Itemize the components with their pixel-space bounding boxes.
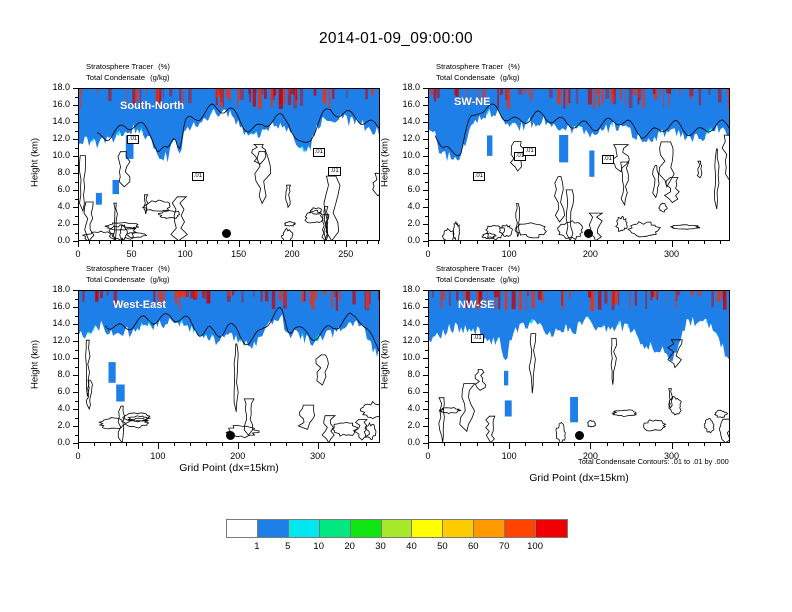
tracer-band-texture <box>314 291 318 300</box>
tracer-band-texture <box>620 89 622 100</box>
y-axis-minor-tick <box>425 131 428 132</box>
orientation-label: SW-NE <box>454 96 490 108</box>
tracer-band-texture <box>576 89 579 104</box>
x-axis-minor-tick <box>174 443 175 446</box>
x-axis-minor-tick <box>542 443 543 446</box>
x-axis-minor-tick <box>292 241 293 244</box>
condensate-contour <box>118 406 125 443</box>
tracer-band-texture <box>562 291 563 307</box>
tracer-band-texture <box>522 89 526 94</box>
tracer-band-texture <box>228 291 231 296</box>
y-axis-tick-label: 2.0 <box>382 218 420 228</box>
panel-header: Stratosphere Tracer(%) Total Condensate(… <box>436 62 520 83</box>
y-axis-minor-tick <box>425 216 428 217</box>
tracer-band-texture <box>699 89 702 106</box>
header-variable-unit: (%) <box>503 62 520 71</box>
orientation-label: South-North <box>120 100 184 112</box>
colorbar <box>226 519 568 538</box>
tracer-band-texture <box>346 89 348 98</box>
tracer-band-texture <box>80 89 82 94</box>
tracer-band-texture <box>378 291 380 300</box>
tracer-band-texture <box>663 89 664 108</box>
tracer-band-texture <box>717 291 721 302</box>
y-axis-tick <box>423 122 428 123</box>
condensate-contour <box>659 203 667 212</box>
condensate-contour <box>114 203 118 241</box>
condensate-contour <box>665 178 680 203</box>
tracer-band-texture <box>260 291 263 302</box>
x-axis-minor-tick <box>228 241 229 244</box>
tracer-band-texture <box>331 291 334 308</box>
y-axis-minor-tick <box>75 333 78 334</box>
condensate-contour <box>442 229 454 242</box>
tracer-band-texture <box>697 291 701 296</box>
x-axis-minor-tick <box>324 241 325 244</box>
y-axis-minor-tick <box>425 418 428 419</box>
tracer-band-texture <box>444 291 445 300</box>
condensate-contour <box>644 420 666 431</box>
x-axis-minor-tick <box>142 241 143 244</box>
tracer-band-texture <box>449 291 451 306</box>
panel-header: Stratosphere Tracer(%) Total Condensate(… <box>86 264 170 285</box>
y-axis-tick <box>423 190 428 191</box>
tracer-filament <box>487 135 492 156</box>
y-axis-tick <box>423 139 428 140</box>
x-axis-minor-tick <box>185 241 186 244</box>
condensate-contour <box>460 384 475 432</box>
tracer-filament <box>109 362 116 383</box>
condensate-contour <box>83 231 116 241</box>
condensate-contour <box>722 135 730 180</box>
y-axis-tick-label: 18.0 <box>32 82 70 92</box>
condensate-contour <box>244 399 254 435</box>
x-axis-minor-tick <box>158 443 159 446</box>
tracer-contour-field <box>79 291 380 443</box>
tracer-band-texture <box>262 89 264 95</box>
tracer-band-texture <box>651 291 654 297</box>
y-axis-minor-tick <box>425 233 428 234</box>
colorbar-segment <box>474 520 505 537</box>
y-axis-minor-tick <box>75 182 78 183</box>
tracer-band-texture <box>288 89 289 96</box>
x-axis-minor-tick <box>477 241 478 244</box>
x-axis-minor-tick <box>477 443 478 446</box>
condensate-contour <box>286 185 291 207</box>
y-axis-minor-tick <box>75 199 78 200</box>
condensate-contour <box>628 222 660 237</box>
y-axis-minor-tick <box>425 384 428 385</box>
condensate-contour <box>453 222 460 241</box>
x-axis-minor-tick <box>132 241 133 244</box>
condensate-contour <box>234 344 238 412</box>
y-axis-label: Height (km) <box>380 309 391 419</box>
contour-value-label: .01 <box>127 135 139 144</box>
header-overlay: Total Condensate <box>86 73 145 82</box>
x-axis-tick-label: 200 <box>570 249 610 259</box>
tracer-band-texture <box>291 89 295 94</box>
tracer-band-texture <box>653 89 656 94</box>
condensate-contour <box>499 225 512 237</box>
x-axis-tick-label: 300 <box>652 249 692 259</box>
tracer-band-texture <box>432 291 433 298</box>
y-axis-tick <box>73 290 78 291</box>
tracer-filament <box>96 193 102 205</box>
condensate-contour <box>556 423 565 443</box>
colorbar-segment <box>289 520 320 537</box>
y-axis-tick-label: 18.0 <box>382 82 420 92</box>
y-axis-minor-tick <box>425 148 428 149</box>
y-axis-minor-tick <box>425 333 428 334</box>
x-axis-tick-label: 200 <box>218 451 258 461</box>
x-axis-minor-tick <box>78 241 79 244</box>
x-axis-tick-label: 150 <box>219 249 259 259</box>
x-axis-minor-tick <box>590 241 591 244</box>
header-variable-unit: (%) <box>153 62 170 71</box>
tracer-band-texture <box>217 89 219 98</box>
tracer-band-texture <box>272 291 276 309</box>
y-axis-label: Height (km) <box>30 309 41 419</box>
tracer-band-texture <box>618 291 620 305</box>
xaxis-label-right: Grid Point (dx=15km) <box>428 472 730 484</box>
tracer-band-texture <box>518 89 522 95</box>
colorbar-tick-label: 100 <box>515 541 555 552</box>
y-axis-minor-tick <box>425 182 428 183</box>
tracer-band-texture <box>279 291 282 301</box>
y-axis-minor-tick <box>75 233 78 234</box>
y-axis-minor-tick <box>75 435 78 436</box>
orientation-label: West-East <box>113 299 166 311</box>
y-axis-minor-tick <box>425 350 428 351</box>
tracer-band-texture <box>249 89 251 102</box>
y-axis-minor-tick <box>75 114 78 115</box>
x-axis-tick-label: 200 <box>272 249 312 259</box>
tracer-band-texture <box>666 89 667 93</box>
tracer-band-texture <box>258 89 262 109</box>
y-axis-tick <box>73 324 78 325</box>
x-axis-minor-tick <box>217 241 218 244</box>
colorbar-segment <box>505 520 536 537</box>
tracer-band-texture <box>512 291 516 309</box>
x-axis-minor-tick <box>254 443 255 446</box>
condensate-contour <box>298 405 314 429</box>
tracer-band-texture <box>593 89 596 109</box>
y-axis-tick <box>73 88 78 89</box>
tracer-band-texture <box>638 89 640 97</box>
condensate-contour <box>159 211 180 219</box>
y-axis-tick <box>423 88 428 89</box>
x-axis-minor-tick <box>110 241 111 244</box>
condensate-contour <box>316 355 329 385</box>
header-overlay: Total Condensate <box>436 275 495 284</box>
panel-header: Stratosphere Tracer(%) Total Condensate(… <box>86 62 170 83</box>
tracer-band-texture <box>519 291 522 311</box>
x-axis-minor-tick <box>574 241 575 244</box>
y-axis-tick-label: 2.0 <box>32 420 70 430</box>
y-axis-tick <box>423 324 428 325</box>
condensate-contour <box>616 216 628 231</box>
tracer-band-texture <box>228 89 231 101</box>
tracer-band-texture <box>654 291 657 298</box>
tracer-band-texture <box>365 89 368 99</box>
tracer-contour-field <box>429 89 730 241</box>
tracer-band-texture <box>538 291 542 300</box>
x-axis-minor-tick <box>672 443 673 446</box>
y-axis-minor-tick <box>75 418 78 419</box>
condensate-contour <box>704 418 714 432</box>
tracer-band-texture <box>499 291 500 310</box>
orientation-label: NW-SE <box>458 299 494 311</box>
tracer-band-texture <box>334 291 338 297</box>
tracer-band-texture <box>463 291 466 298</box>
panel-nw-se: Stratosphere Tracer(%) Total Condensate(… <box>428 290 730 443</box>
x-axis-minor-tick <box>366 443 367 446</box>
tracer-band-texture <box>163 89 164 98</box>
condensate-contour <box>255 151 271 203</box>
x-axis-minor-tick <box>164 241 165 244</box>
y-axis-tick <box>73 307 78 308</box>
y-axis-minor-tick <box>75 350 78 351</box>
y-axis-minor-tick <box>425 114 428 115</box>
colorbar-segment <box>258 520 289 537</box>
tracer-band-texture <box>588 89 592 105</box>
tracer-band-texture <box>265 291 269 301</box>
tracer-filament <box>113 180 120 194</box>
tracer-band-texture <box>500 89 502 95</box>
colorbar-segment <box>320 520 351 537</box>
tracer-band-texture <box>708 89 711 95</box>
tracer-filament <box>570 397 578 422</box>
y-axis-tick-label: 0.0 <box>382 437 420 447</box>
x-axis-minor-tick <box>460 241 461 244</box>
y-axis-tick <box>73 173 78 174</box>
condensate-contour <box>360 402 380 419</box>
y-axis-tick <box>73 358 78 359</box>
tracer-band-texture <box>665 291 666 308</box>
tracer-band-texture <box>530 89 532 102</box>
tracer-band-texture <box>239 89 241 100</box>
page-title: 2014-01-09_09:00:00 <box>0 30 792 48</box>
x-axis-minor-tick <box>509 443 510 446</box>
header-overlay-unit: (g/kg) <box>495 73 519 82</box>
y-axis-tick <box>423 392 428 393</box>
header-overlay-unit: (g/kg) <box>495 275 519 284</box>
y-axis-label: Height (km) <box>30 107 41 217</box>
contour-value-label: .01 <box>192 172 204 181</box>
y-axis-minor-tick <box>75 131 78 132</box>
tracer-band-texture <box>188 89 192 103</box>
header-variable: Stratosphere Tracer <box>436 62 503 71</box>
x-axis-minor-tick <box>190 443 191 446</box>
x-axis-minor-tick <box>574 443 575 446</box>
condensate-contour <box>439 398 445 443</box>
panel-west-east: Stratosphere Tracer(%) Total Condensate(… <box>78 290 380 443</box>
tracer-band-texture <box>507 89 511 109</box>
y-axis-tick <box>73 392 78 393</box>
tracer-band-texture <box>146 89 148 95</box>
x-axis-minor-tick <box>121 241 122 244</box>
y-axis-tick-label: 18.0 <box>32 284 70 294</box>
tracer-band-texture <box>605 89 609 99</box>
tracer-filament <box>116 385 125 402</box>
tracer-band-texture <box>296 89 297 100</box>
colorbar-segment <box>412 520 443 537</box>
condensate-contour <box>364 423 376 440</box>
y-axis-minor-tick <box>425 97 428 98</box>
xaxis-label-left: Grid Point (dx=15km) <box>78 462 380 474</box>
header-overlay: Total Condensate <box>86 275 145 284</box>
condensate-contour <box>555 177 565 222</box>
tracer-band-texture <box>301 291 304 302</box>
x-axis-minor-tick <box>558 241 559 244</box>
x-axis-minor-tick <box>688 443 689 446</box>
tracer-band-texture <box>223 89 224 107</box>
header-variable-unit: (%) <box>503 264 520 273</box>
x-axis-minor-tick <box>153 241 154 244</box>
tracer-band-texture <box>430 89 433 95</box>
contour-value-label: .01 <box>523 147 535 156</box>
x-axis-minor-tick <box>270 443 271 446</box>
y-axis-tick-label: 2.0 <box>32 218 70 228</box>
x-axis-minor-tick <box>346 241 347 244</box>
tracer-band-texture <box>656 291 658 300</box>
tracer-band-texture <box>202 291 205 298</box>
x-axis-tick-label: 100 <box>489 249 529 259</box>
x-axis-minor-tick <box>99 241 100 244</box>
y-axis-tick-label: 18.0 <box>382 284 420 294</box>
tracer-band-texture <box>253 291 254 297</box>
x-axis-tick-label: 50 <box>112 249 152 259</box>
tracer-band-texture <box>255 89 257 93</box>
x-axis-minor-tick <box>720 443 721 446</box>
condensate-contour <box>612 410 636 417</box>
x-axis-minor-tick <box>720 241 721 244</box>
y-axis-tick <box>73 409 78 410</box>
condensate-contour <box>482 233 496 239</box>
y-axis-tick <box>423 156 428 157</box>
header-overlay: Total Condensate <box>436 73 495 82</box>
tracer-band-texture <box>300 89 303 106</box>
y-axis-tick <box>423 207 428 208</box>
plot-area <box>78 290 380 443</box>
tracer-band-texture <box>237 89 238 108</box>
x-axis-tick-label: 300 <box>298 451 338 461</box>
colorbar-segment <box>382 520 413 537</box>
x-axis-minor-tick <box>460 443 461 446</box>
condensate-contour <box>475 369 485 390</box>
x-axis-minor-tick <box>704 241 705 244</box>
tracer-band-texture <box>691 291 694 295</box>
condensate-contour <box>99 418 125 429</box>
tracer-band-texture <box>505 291 508 310</box>
tracer-band-texture <box>95 291 99 302</box>
y-axis-tick <box>423 375 428 376</box>
x-axis-minor-tick <box>335 241 336 244</box>
condensate-contour <box>714 149 719 209</box>
x-axis-minor-tick <box>89 241 90 244</box>
x-axis-minor-tick <box>142 443 143 446</box>
tracer-band-texture <box>328 89 331 108</box>
tracer-filament <box>589 151 594 177</box>
contour-value-label: .01 <box>602 155 614 164</box>
y-axis-tick <box>73 341 78 342</box>
tracer-band-texture <box>645 291 646 309</box>
x-axis-minor-tick <box>314 241 315 244</box>
tracer-band-texture <box>437 89 440 98</box>
condensate-contour <box>697 161 702 178</box>
plot-area: .01.01.01.01 <box>428 88 730 241</box>
x-axis-minor-tick <box>196 241 197 244</box>
y-axis-tick-label: 0.0 <box>382 235 420 245</box>
tracer-band-texture <box>569 291 571 298</box>
x-axis-minor-tick <box>688 241 689 244</box>
x-axis-minor-tick <box>639 241 640 244</box>
condensate-contour <box>671 225 701 230</box>
tracer-band-texture <box>107 291 108 296</box>
panel-south-north: Stratosphere Tracer(%) Total Condensate(… <box>78 88 380 241</box>
tracer-band-texture <box>611 291 613 306</box>
y-axis-minor-tick <box>75 165 78 166</box>
x-axis-minor-tick <box>303 241 304 244</box>
y-axis-tick <box>73 122 78 123</box>
tracer-band-texture <box>596 89 599 94</box>
y-axis-tick <box>73 426 78 427</box>
y-axis-tick <box>423 341 428 342</box>
x-axis-minor-tick <box>444 443 445 446</box>
tracer-band-texture <box>723 291 727 310</box>
x-axis-minor-tick <box>655 241 656 244</box>
tracer-band-texture <box>369 291 370 304</box>
contour-value-label: .01 <box>313 148 325 157</box>
condensate-contour <box>529 334 536 394</box>
tracer-band-texture <box>629 89 633 108</box>
y-axis-tick <box>73 139 78 140</box>
y-axis-minor-tick <box>425 165 428 166</box>
tracer-band-texture <box>283 291 287 306</box>
y-axis-label: Height (km) <box>380 107 391 217</box>
contour-value-label: .01 <box>328 167 340 176</box>
condensate-contour <box>715 410 728 417</box>
y-axis-tick <box>423 224 428 225</box>
x-axis-minor-tick <box>207 241 208 244</box>
x-axis-minor-tick <box>286 443 287 446</box>
condensate-contour <box>669 397 681 415</box>
y-axis-tick <box>423 173 428 174</box>
x-axis-minor-tick <box>126 443 127 446</box>
y-axis-minor-tick <box>425 435 428 436</box>
x-axis-minor-tick <box>222 443 223 446</box>
x-axis-minor-tick <box>428 443 429 446</box>
x-axis-minor-tick <box>174 241 175 244</box>
y-axis-minor-tick <box>75 216 78 217</box>
y-axis-tick <box>73 375 78 376</box>
x-axis-minor-tick <box>623 443 624 446</box>
tracer-band-texture <box>629 291 631 310</box>
tracer-band-texture <box>209 291 211 303</box>
x-axis-minor-tick <box>525 241 526 244</box>
condensate-contour <box>252 144 266 164</box>
tracer-band-texture <box>659 89 660 97</box>
tracer-band-texture <box>677 291 680 295</box>
y-axis-minor-tick <box>425 199 428 200</box>
condensate-contour <box>611 338 617 384</box>
tracer-band-texture <box>352 291 355 304</box>
x-axis-minor-tick <box>281 241 282 244</box>
x-axis-minor-tick <box>271 241 272 244</box>
condensate-contour <box>282 228 294 241</box>
tracer-band-texture <box>271 89 272 94</box>
tracer-band-texture <box>97 89 99 94</box>
x-axis-minor-tick <box>509 241 510 244</box>
